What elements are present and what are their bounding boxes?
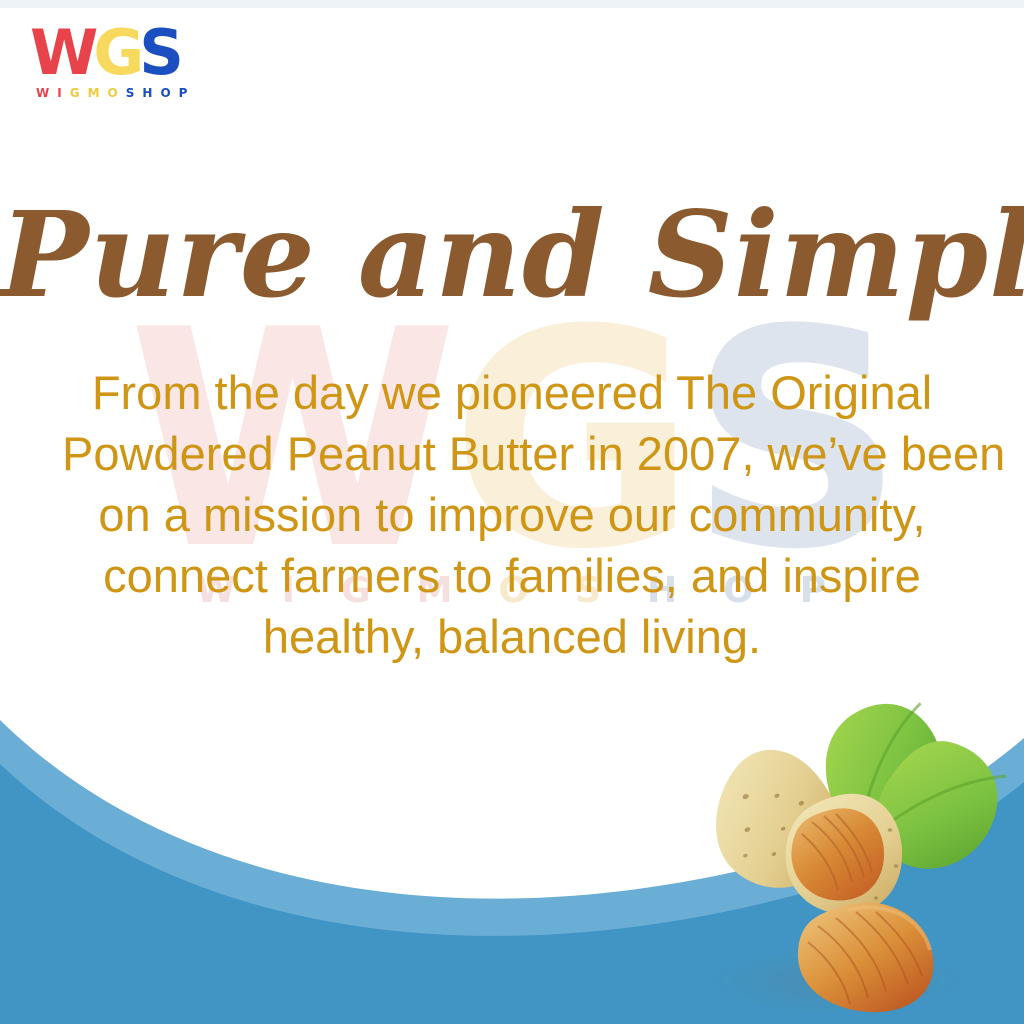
logo-sub-letter: O [160, 86, 171, 100]
logo-letter-w: W [30, 22, 95, 84]
logo-sub-letter: W [36, 86, 50, 100]
logo-sub-letter: S [126, 86, 136, 100]
logo-sub-letter: M [88, 86, 101, 100]
logo-wordmark: W G S [30, 22, 220, 84]
logo-sub-letter: P [179, 86, 189, 100]
body-line: Powdered Peanut Butter in 2007, we’ve be… [62, 423, 962, 484]
body-line: connect farmers to families, and inspire [62, 545, 962, 606]
logo-sub-letter: H [142, 86, 153, 100]
almonds-illustration [640, 690, 1024, 1024]
body-line: From the day we pioneered The Original [62, 362, 962, 423]
logo-letter-g: G [93, 22, 141, 84]
promo-poster: W G S W I G M O S H O P W G S W I G M O [0, 0, 1024, 1024]
wgs-logo[interactable]: W G S W I G M O S H O P [30, 22, 220, 100]
logo-sub-letter: I [57, 86, 62, 100]
headline: Pure and Simple [0, 196, 1024, 314]
logo-letter-s: S [139, 22, 181, 84]
body-paragraph: From the day we pioneered The Original P… [62, 362, 962, 667]
body-line: on a mission to improve our community, [62, 484, 962, 545]
logo-sub-letter: G [70, 86, 81, 100]
body-line: healthy, balanced living. [62, 606, 962, 667]
logo-sub-letter: O [108, 86, 119, 100]
